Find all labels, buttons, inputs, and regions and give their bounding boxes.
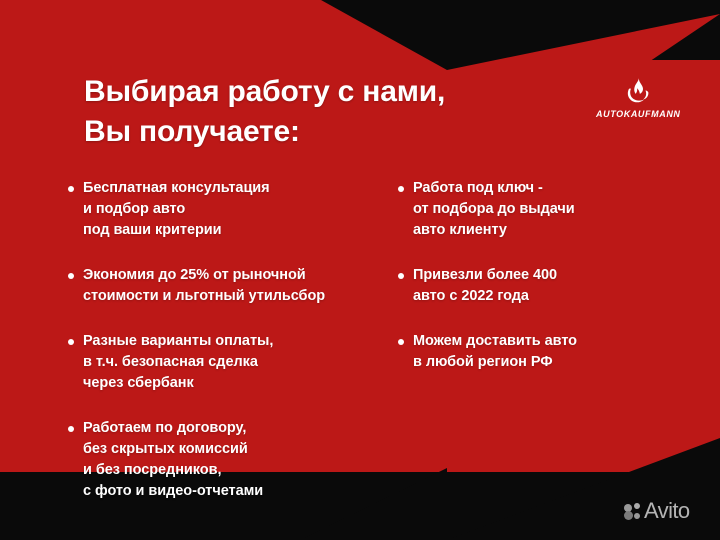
flame-emblem-icon — [623, 76, 653, 106]
list-item: Работа под ключ - от подбора до выдачи а… — [398, 178, 708, 241]
benefit-text: Работа под ключ - от подбора до выдачи а… — [413, 178, 575, 241]
brand-logo: AUTOKAUFMANN — [596, 76, 680, 119]
list-item: Можем доставить авто в любой регион РФ — [398, 331, 708, 373]
benefits-column-left: Бесплатная консультация и подбор авто по… — [68, 178, 398, 526]
list-item: Экономия до 25% от рыночной стоимости и … — [68, 265, 398, 307]
benefit-text: Бесплатная консультация и подбор авто по… — [83, 178, 270, 241]
avito-watermark: Avito — [624, 500, 690, 522]
benefit-text: Экономия до 25% от рыночной стоимости и … — [83, 265, 325, 307]
list-item: Работаем по договору, без скрытых комисс… — [68, 418, 398, 502]
bullet-dot-icon — [398, 186, 404, 192]
bullet-dot-icon — [68, 273, 74, 279]
list-item: Бесплатная консультация и подбор авто по… — [68, 178, 398, 241]
brand-wordmark: AUTOKAUFMANN — [596, 109, 680, 119]
list-item: Привезли более 400 авто с 2022 года — [398, 265, 708, 307]
benefit-text: Привезли более 400 авто с 2022 года — [413, 265, 557, 307]
benefits-columns: Бесплатная консультация и подбор авто по… — [68, 178, 708, 526]
benefits-column-right: Работа под ключ - от подбора до выдачи а… — [398, 178, 708, 526]
page-title: Выбирая работу с нами, Вы получаете: — [84, 72, 584, 152]
list-item: Разные варианты оплаты, в т.ч. безопасна… — [68, 331, 398, 394]
bullet-dot-icon — [68, 339, 74, 345]
bullet-dot-icon — [68, 426, 74, 432]
avito-wordmark: Avito — [644, 500, 690, 522]
avito-dots-icon — [624, 503, 641, 520]
benefit-text: Работаем по договору, без скрытых комисс… — [83, 418, 263, 502]
bullet-dot-icon — [68, 186, 74, 192]
promo-poster: Выбирая работу с нами, Вы получаете: AUT… — [0, 0, 720, 540]
benefit-text: Разные варианты оплаты, в т.ч. безопасна… — [83, 331, 273, 394]
benefit-text: Можем доставить авто в любой регион РФ — [413, 331, 577, 373]
bullet-dot-icon — [398, 339, 404, 345]
bullet-dot-icon — [398, 273, 404, 279]
